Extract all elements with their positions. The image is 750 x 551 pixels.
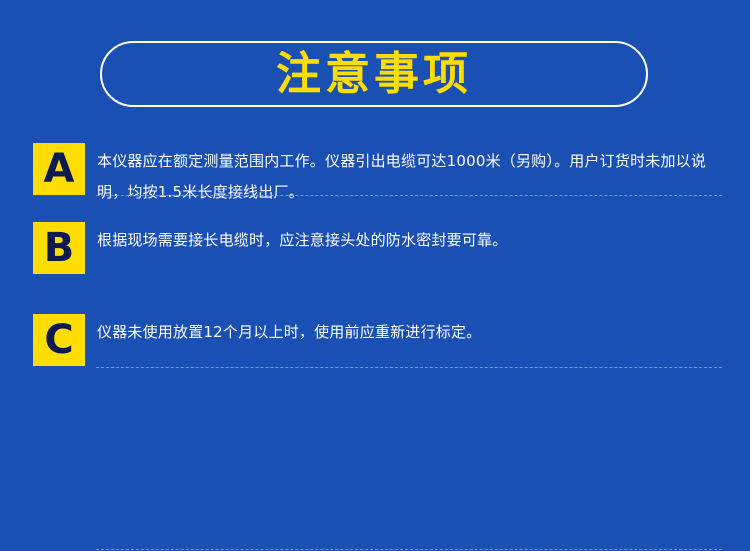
note-text-c: 仪器未使用放置12个月以上时，使用前应重新进行标定。	[97, 314, 720, 348]
notice-page: { "theme": { "background": "#1a50b4", "a…	[0, 0, 750, 429]
page-title-banner: 注意事项	[100, 41, 648, 107]
page-title: 注意事项	[276, 51, 472, 96]
notes-list: A 本仪器应在额定测量范围内工作。仪器引出电缆可达1000米（另购）。用户订货时…	[0, 128, 750, 392]
note-item-a: A 本仪器应在额定测量范围内工作。仪器引出电缆可达1000米（另购）。用户订货时…	[0, 128, 750, 210]
note-text-b: 根据现场需要接长电缆时，应注意接头处的防水密封要可靠。	[97, 222, 720, 256]
note-badge-c: C	[33, 314, 85, 366]
note-text-a: 本仪器应在额定测量范围内工作。仪器引出电缆可达1000米（另购）。用户订货时未加…	[97, 143, 720, 208]
note-badge-b: B	[33, 222, 85, 274]
note-item-c: C 仪器未使用放置12个月以上时，使用前应重新进行标定。	[0, 300, 750, 392]
note-item-b: B 根据现场需要接长电缆时，应注意接头处的防水密封要可靠。	[0, 210, 750, 300]
note-divider-1	[96, 195, 722, 197]
note-badge-a: A	[33, 143, 85, 195]
